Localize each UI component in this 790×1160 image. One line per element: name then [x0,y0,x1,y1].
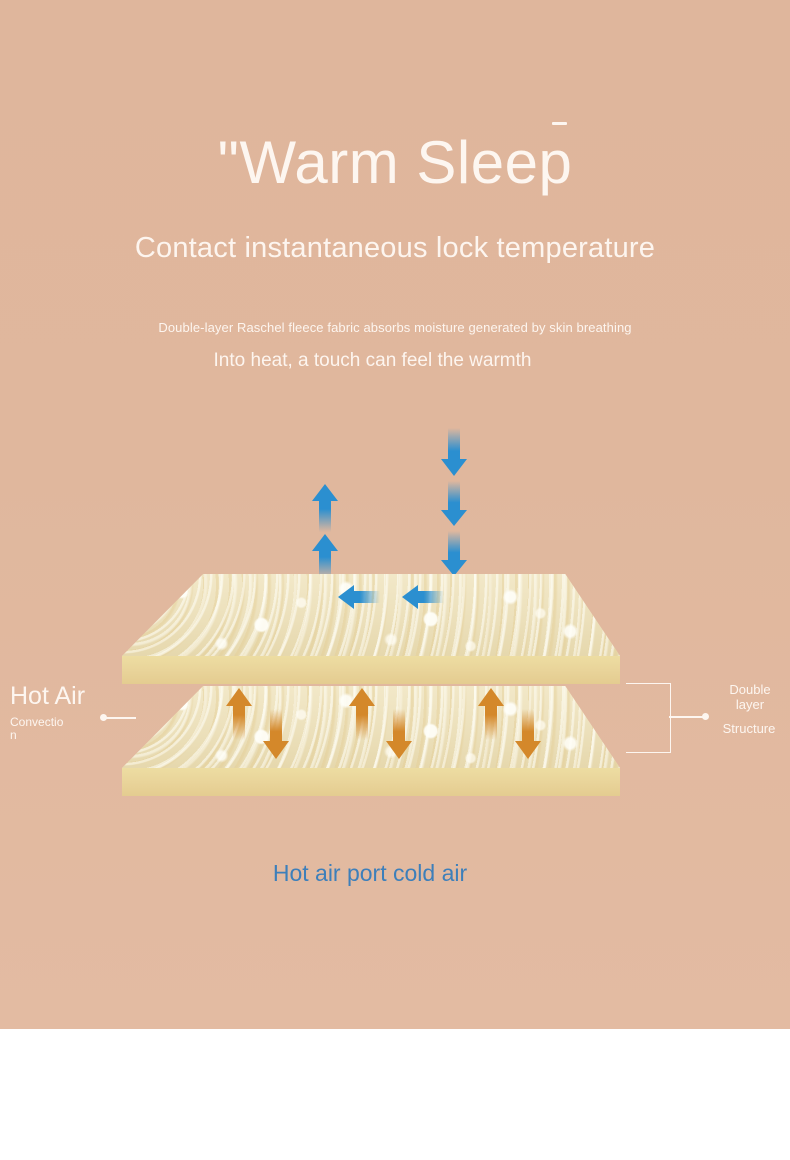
page-title: "Warm Sleep [0,126,790,200]
interlayer-up-arrow-icon [226,688,252,740]
cold-down-arrow-icon [441,531,467,576]
hot-air-label: Hot Air [10,681,85,711]
poster-panel: "Warm Sleep Contact instantaneous lock t… [0,0,790,1029]
interlayer-down-arrow-icon [263,709,289,759]
leader-dot-icon [702,713,709,720]
headline-dash-mark [552,122,567,125]
fineprint-line-1: Double-layer Raschel fleece fabric absor… [0,320,790,335]
double-layer-bracket [626,683,671,753]
left-leader-line [100,714,136,722]
fineprint-line-2: Into heat, a touch can feel the warmth [0,350,745,372]
cold-down-arrow-icon [441,481,467,526]
interlayer-down-arrow-icon [515,709,541,759]
horizontal-left-arrow-icon [338,585,380,609]
interlayer-down-arrow-icon [386,709,412,759]
right-leader-line [669,713,709,721]
page-subtitle: Contact instantaneous lock temperature [0,232,790,265]
leader-line [105,717,136,719]
double-layer-label: Double layer [715,682,785,712]
fabric-backing-band [122,656,620,684]
below-fold-whitespace [0,1029,790,1160]
leader-line [669,716,703,718]
cold-down-arrow-icon [441,428,467,476]
interlayer-up-arrow-icon [478,688,504,740]
double-layer-line-1: Double [729,682,770,697]
horizontal-left-arrow-icon [402,585,444,609]
fabric-backing-band [122,768,620,796]
convection-label: Convection [10,716,65,742]
structure-label: Structure [712,721,786,736]
double-layer-line-2: layer [736,697,764,712]
diagram-caption: Hot air port cold air [0,860,740,887]
warm-up-arrow-icon [312,484,338,532]
interlayer-up-arrow-icon [349,688,375,740]
